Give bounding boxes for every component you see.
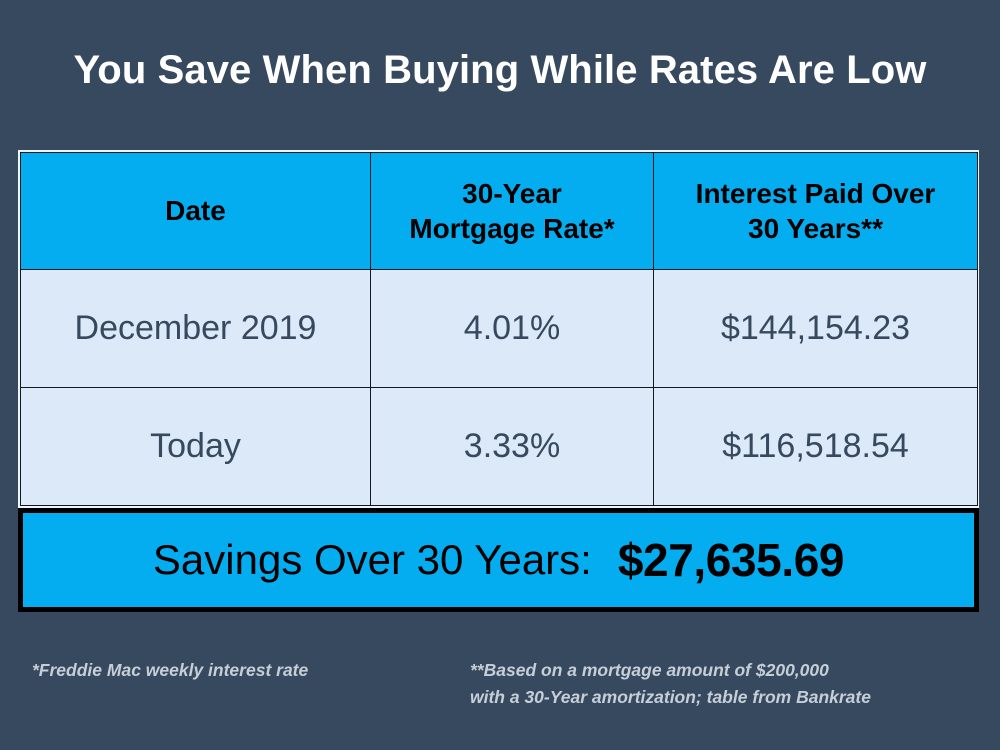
comparison-table: Date 30-Year Mortgage Rate* Interest Pai… bbox=[20, 152, 978, 506]
column-header-rate-line2: Mortgage Rate* bbox=[409, 213, 614, 244]
savings-callout: Savings Over 30 Years: $27,635.69 bbox=[18, 508, 979, 612]
column-header-interest-line1: Interest Paid Over bbox=[696, 178, 936, 209]
column-header-interest-line2: 30 Years** bbox=[748, 213, 883, 244]
column-header-rate: 30-Year Mortgage Rate* bbox=[371, 153, 654, 270]
column-header-date-line1: Date bbox=[165, 195, 226, 226]
footnote-right: **Based on a mortgage amount of $200,000… bbox=[470, 657, 871, 711]
table-body: December 2019 4.01% $144,154.23 Today 3.… bbox=[21, 270, 978, 506]
cell-interest-0: $144,154.23 bbox=[654, 270, 978, 388]
footnote-right-line1: **Based on a mortgage amount of $200,000 bbox=[470, 657, 871, 684]
footnote-right-line2: with a 30-Year amortization; table from … bbox=[470, 684, 871, 711]
cell-interest-1: $116,518.54 bbox=[654, 388, 978, 506]
column-header-rate-line1: 30-Year bbox=[462, 178, 562, 209]
cell-date-0: December 2019 bbox=[21, 270, 371, 388]
footnote-left: *Freddie Mac weekly interest rate bbox=[32, 657, 308, 684]
table-header: Date 30-Year Mortgage Rate* Interest Pai… bbox=[21, 153, 978, 270]
table-row: December 2019 4.01% $144,154.23 bbox=[21, 270, 978, 388]
mortgage-comparison-table: Date 30-Year Mortgage Rate* Interest Pai… bbox=[18, 150, 979, 508]
savings-label: Savings Over 30 Years: bbox=[153, 536, 592, 584]
table-row: Today 3.33% $116,518.54 bbox=[21, 388, 978, 506]
table-header-row: Date 30-Year Mortgage Rate* Interest Pai… bbox=[21, 153, 978, 270]
column-header-date: Date bbox=[21, 153, 371, 270]
column-header-interest: Interest Paid Over 30 Years** bbox=[654, 153, 978, 270]
cell-date-1: Today bbox=[21, 388, 371, 506]
page-title: You Save When Buying While Rates Are Low bbox=[0, 48, 1000, 93]
savings-value: $27,635.69 bbox=[618, 533, 844, 587]
cell-rate-0: 4.01% bbox=[371, 270, 654, 388]
cell-rate-1: 3.33% bbox=[371, 388, 654, 506]
